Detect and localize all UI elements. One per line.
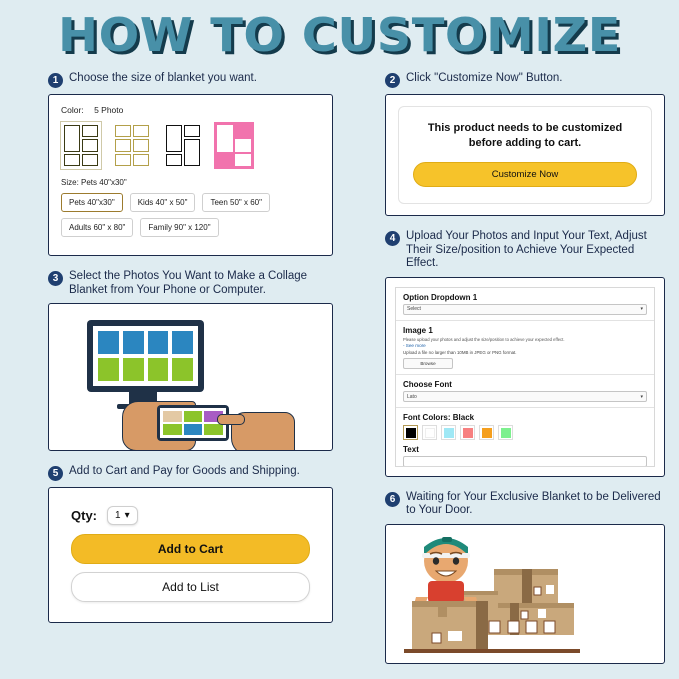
- step-5-panel: Qty: 1 ▾ Add to Cart Add to List: [48, 487, 333, 623]
- step-4-heading: 4 Upload Your Photos and Input Your Text…: [385, 230, 665, 271]
- swatch-fill: [406, 428, 416, 438]
- customize-notice: This product needs to be customized befo…: [398, 106, 652, 204]
- step-6-badge: 6: [385, 492, 400, 507]
- thumb-cell: [235, 125, 251, 137]
- thumb-cell: [184, 139, 200, 166]
- step-5-badge: 5: [48, 466, 63, 481]
- swatch-fill: [425, 428, 435, 438]
- swatch-fill: [482, 428, 492, 438]
- size-option-adults[interactable]: Adults 60" x 80": [61, 218, 133, 237]
- thumb-cell: [82, 139, 98, 151]
- upload-note: Upload a file no larger than 10MB in JPE…: [403, 350, 647, 355]
- thumb-cell: [133, 154, 149, 166]
- thumb-cell: [82, 125, 98, 137]
- color-row: Color: 5 Photo: [61, 105, 320, 115]
- option-dropdown-select[interactable]: Select ▾: [403, 304, 647, 315]
- font-color-white[interactable]: [422, 425, 437, 440]
- step-2-text: Click "Customize Now" Button.: [406, 72, 562, 86]
- thumb-cell: [64, 154, 80, 166]
- thumb-cell: [217, 125, 233, 152]
- step-3-text: Select the Photos You Want to Make a Col…: [69, 270, 333, 297]
- thumb-cell: [166, 154, 182, 166]
- customize-message: This product needs to be customized befo…: [413, 121, 637, 151]
- step-3-panel: [48, 303, 333, 451]
- step-2-panel: This product needs to be customized befo…: [385, 94, 665, 216]
- customize-now-button[interactable]: Customize Now: [413, 162, 637, 187]
- step-1-panel: Color: 5 Photo: [48, 94, 333, 256]
- font-colors-label: Font Colors: Black: [403, 413, 647, 422]
- swatch-fill: [501, 428, 511, 438]
- step-3-badge: 3: [48, 271, 63, 286]
- quantity-row: Qty: 1 ▾: [71, 506, 310, 525]
- left-column: 1 Choose the size of blanket you want. C…: [48, 72, 333, 637]
- option-dropdown-label: Option Dropdown 1: [403, 293, 647, 302]
- step-6-heading: 6 Waiting for Your Exclusive Blanket to …: [385, 491, 665, 518]
- step-4-text: Upload Your Photos and Input Your Text, …: [406, 230, 665, 271]
- option-dropdown-value: Select: [407, 306, 421, 312]
- font-colors-section: Font Colors: Black Text: [396, 408, 654, 466]
- thumb-cell: [133, 139, 149, 151]
- font-color-orange[interactable]: [479, 425, 494, 440]
- chevron-down-icon: ▾: [640, 306, 643, 312]
- delivery-illustration: [386, 525, 665, 662]
- choose-font-value: Lato: [407, 394, 417, 400]
- right-column: 2 Click "Customize Now" Button. This pro…: [385, 72, 665, 678]
- choose-font-select[interactable]: Lato ▾: [403, 391, 647, 402]
- step-6-text: Waiting for Your Exclusive Blanket to be…: [406, 491, 665, 518]
- font-color-pink[interactable]: [460, 425, 475, 440]
- add-to-list-button[interactable]: Add to List: [71, 572, 310, 602]
- page-title: HOW TO CUSTOMIZE: [0, 8, 679, 62]
- step-4-badge: 4: [385, 231, 400, 246]
- thumb-cell: [115, 125, 131, 137]
- size-options-row-1: Pets 40"x30" Kids 40" x 50" Teen 50" x 6…: [61, 193, 320, 212]
- step-2-badge: 2: [385, 73, 400, 88]
- quantity-value: 1: [115, 510, 121, 521]
- thumb-cell: [184, 125, 200, 137]
- size-option-teen[interactable]: Teen 50" x 60": [202, 193, 270, 212]
- thumb-cell: [217, 154, 233, 166]
- swatch-fill: [463, 428, 473, 438]
- photo-swatch: [163, 411, 182, 422]
- photo-swatch: [172, 358, 193, 381]
- swatch-fill: [444, 428, 454, 438]
- quantity-stepper[interactable]: 1 ▾: [107, 506, 138, 525]
- thumb-cell: [82, 154, 98, 166]
- image-upload-section: Image 1 Please upload your photos and ad…: [396, 321, 654, 376]
- thumb-cell: [64, 125, 80, 152]
- photo-swatch: [148, 358, 169, 381]
- font-color-green[interactable]: [498, 425, 513, 440]
- photo-swatch: [98, 358, 119, 381]
- option-dropdown-section: Option Dropdown 1 Select ▾: [396, 288, 654, 321]
- photo-swatch: [123, 331, 144, 354]
- photo-swatch: [123, 358, 144, 381]
- thumbnail-collage-black[interactable]: [163, 122, 203, 169]
- step-1-text: Choose the size of blanket you want.: [69, 72, 257, 86]
- step-6-panel: [385, 524, 665, 664]
- step-5-heading: 5 Add to Cart and Pay for Goods and Ship…: [48, 465, 333, 481]
- step-5-text: Add to Cart and Pay for Goods and Shippi…: [69, 465, 300, 479]
- browse-button[interactable]: Browse: [403, 358, 453, 369]
- step-2-heading: 2 Click "Customize Now" Button.: [385, 72, 665, 88]
- customizer-form: Option Dropdown 1 Select ▾ Image 1 Pleas…: [395, 287, 655, 467]
- thumb-cell: [115, 154, 131, 166]
- step-4-panel: Option Dropdown 1 Select ▾ Image 1 Pleas…: [385, 277, 665, 477]
- choose-font-label: Choose Font: [403, 380, 647, 389]
- pointing-finger-icon: [217, 414, 245, 425]
- size-option-kids[interactable]: Kids 40" x 50": [130, 193, 196, 212]
- color-label: Color:: [61, 105, 84, 115]
- image-heading: Image 1: [403, 326, 647, 335]
- photo-swatch: [163, 424, 182, 435]
- photo-swatch: [98, 331, 119, 354]
- step-1-heading: 1 Choose the size of blanket you want.: [48, 72, 333, 88]
- image-help-text: Please upload your photos and adjust the…: [403, 337, 647, 342]
- font-color-swatches: [403, 425, 647, 440]
- phone-screen: [160, 408, 226, 438]
- thumbnail-collage-pink[interactable]: [214, 122, 254, 169]
- size-option-pets[interactable]: Pets 40"x30": [61, 193, 123, 212]
- font-color-black[interactable]: [403, 425, 418, 440]
- quantity-label: Qty:: [71, 508, 97, 523]
- thumb-cell: [235, 154, 251, 166]
- photo-swatch: [184, 411, 203, 422]
- text-field-label: Text: [403, 445, 647, 454]
- add-to-cart-button[interactable]: Add to Cart: [71, 534, 310, 564]
- thumb-cell: [235, 139, 251, 151]
- color-value: 5 Photo: [94, 105, 123, 115]
- thumbnail-collage-olive[interactable]: [61, 122, 101, 169]
- photo-swatch: [172, 331, 193, 354]
- text-input[interactable]: [403, 456, 647, 466]
- chevron-down-icon: ▾: [640, 394, 643, 400]
- monitor-icon: [87, 320, 204, 392]
- size-label: Size: Pets 40"x30": [61, 178, 320, 187]
- thumbnail-list: [61, 122, 320, 169]
- photo-swatch: [148, 331, 169, 354]
- choose-font-section: Choose Font Lato ▾: [396, 375, 654, 408]
- thumb-cell: [166, 125, 182, 152]
- step-1-badge: 1: [48, 73, 63, 88]
- chevron-down-icon: ▾: [125, 510, 130, 521]
- thumbnail-collage-gold[interactable]: [112, 122, 152, 169]
- photo-swatch: [204, 424, 223, 435]
- thumb-cell: [133, 125, 149, 137]
- size-options-row-2: Adults 60" x 80" Family 90" x 120": [61, 218, 320, 237]
- monitor-screen: [93, 326, 198, 386]
- photo-swatch: [184, 424, 203, 435]
- thumb-cell: [115, 139, 131, 151]
- step-3-heading: 3 Select the Photos You Want to Make a C…: [48, 270, 333, 297]
- size-option-family[interactable]: Family 90" x 120": [140, 218, 218, 237]
- font-color-cyan[interactable]: [441, 425, 456, 440]
- see-more-link[interactable]: - See more: [403, 343, 647, 348]
